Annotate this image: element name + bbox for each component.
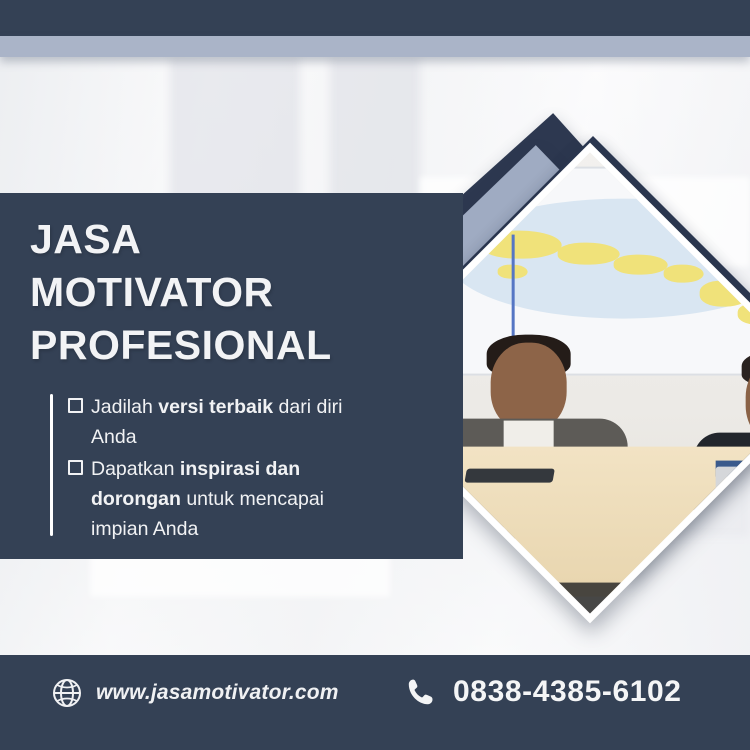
checkbox-icon — [68, 398, 83, 413]
phone-icon — [405, 676, 437, 708]
bullet-accent-rule — [50, 394, 53, 536]
benefit-list: Jadilah versi terbaik dari diri Anda Dap… — [68, 392, 368, 546]
globe-icon — [52, 678, 82, 708]
top-accent-bar — [0, 36, 750, 57]
bullet-text-before: Jadilah — [91, 396, 158, 418]
phone-contact[interactable]: 0838-4385-6102 — [405, 675, 682, 709]
page-title: JASA MOTIVATOR PROFESIONAL — [30, 213, 430, 372]
website-url[interactable]: www.jasamotivator.com — [96, 681, 339, 705]
bullet-text-before: Dapatkan — [91, 458, 180, 480]
top-navy-bar — [0, 0, 750, 36]
phone-number[interactable]: 0838-4385-6102 — [453, 675, 682, 709]
headline-line-3: PROFESIONAL — [30, 319, 430, 372]
bullet-text-bold: versi terbaik — [158, 396, 273, 418]
checkbox-icon — [68, 460, 83, 475]
list-item: Jadilah versi terbaik dari diri Anda — [68, 392, 368, 452]
promo-banner: JASA MOTIVATOR PROFESIONAL Jadilah versi… — [0, 0, 750, 750]
website-contact[interactable]: www.jasamotivator.com — [52, 678, 339, 708]
headline-line-2: MOTIVATOR — [30, 266, 430, 319]
headline-line-1: JASA — [30, 213, 430, 266]
list-item: Dapatkan inspirasi dan dorongan untuk me… — [68, 454, 368, 544]
